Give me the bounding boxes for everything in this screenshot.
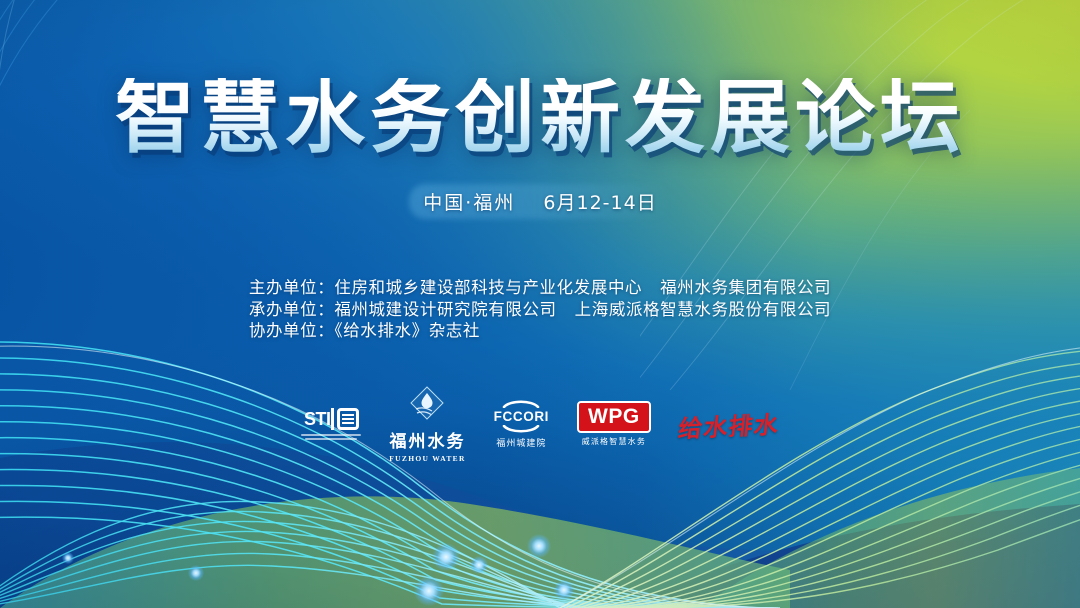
logo-wpg: WPG 威派格智慧水务 [577,401,651,447]
stid-bar-icon [331,408,334,430]
organizer-org-1: 福州城建设计研究院有限公司 [334,300,556,319]
journal-calligraphy: 给水排水 [676,404,781,443]
host-line: 主办单位：住房和城乡建设部科技与产业化发展中心福州水务集团有限公司 [249,277,831,299]
wpg-label: WPG [588,405,640,428]
subtitle-location: 中国·福州 [423,192,515,214]
fccori-label: FCCORI [494,409,549,424]
fuzhou-water-en: FUZHOU WATER [389,454,465,463]
subtitle-block: 中国·福州 6月12-14日 [423,188,656,215]
water-drop-icon [410,386,444,420]
wpg-cn: 威派格智慧水务 [582,436,646,447]
coorganizer-line: 协办单位：《给水排水》杂志社 [249,320,831,342]
host-org-2: 福州水务集团有限公司 [660,278,831,297]
conference-poster: 智慧水务创新发展论坛 中国·福州 6月12-14日 主办单位：住房和城乡建设部科… [0,0,1080,608]
page-title: 智慧水务创新发展论坛 [115,78,965,158]
coorganizer-org-1: 《给水排水》杂志社 [334,321,480,340]
stid-label: STI [304,409,331,430]
organizers-block: 主办单位：住房和城乡建设部科技与产业化发展中心福州水务集团有限公司 承办单位：福… [249,277,831,342]
organizer-label: 承办单位： [249,300,335,319]
stid-wordmark: STI [304,408,359,430]
poster-content: 智慧水务创新发展论坛 中国·福州 6月12-14日 主办单位：住房和城乡建设部科… [0,0,1080,608]
sponsor-logo-strip: STI 福州水务 [301,386,778,463]
fccori-cn: 福州城建院 [496,436,546,449]
host-org-1: 住房和城乡建设部科技与产业化发展中心 [334,278,642,297]
wpg-badge: WPG [577,401,651,433]
logo-fuzhou-water: 福州水务 FUZHOU WATER [389,386,465,463]
logo-stid: STI [301,408,361,440]
subtitle-text: 中国·福州 6月12-14日 [423,188,656,215]
logo-journal-gshpsh: 给水排水 [679,407,779,442]
logo-fccori: FCCORI 福州城建院 [494,399,549,449]
stid-subtitle-lines [301,434,361,440]
coorganizer-label: 协办单位： [249,321,335,340]
fuzhou-water-cn: 福州水务 [389,427,465,452]
fuzhou-water-wordmark: 福州水务 FUZHOU WATER [389,427,465,463]
stid-d-icon [337,408,359,430]
host-label: 主办单位： [249,278,335,297]
fccori-arc-top-icon [502,399,540,408]
fccori-arc-bottom-icon [502,425,540,434]
subtitle-date: 6月12-14日 [543,192,656,214]
organizer-line: 承办单位：福州城建设计研究院有限公司上海威派格智慧水务股份有限公司 [249,299,831,321]
organizer-org-2: 上海威派格智慧水务股份有限公司 [575,300,832,319]
